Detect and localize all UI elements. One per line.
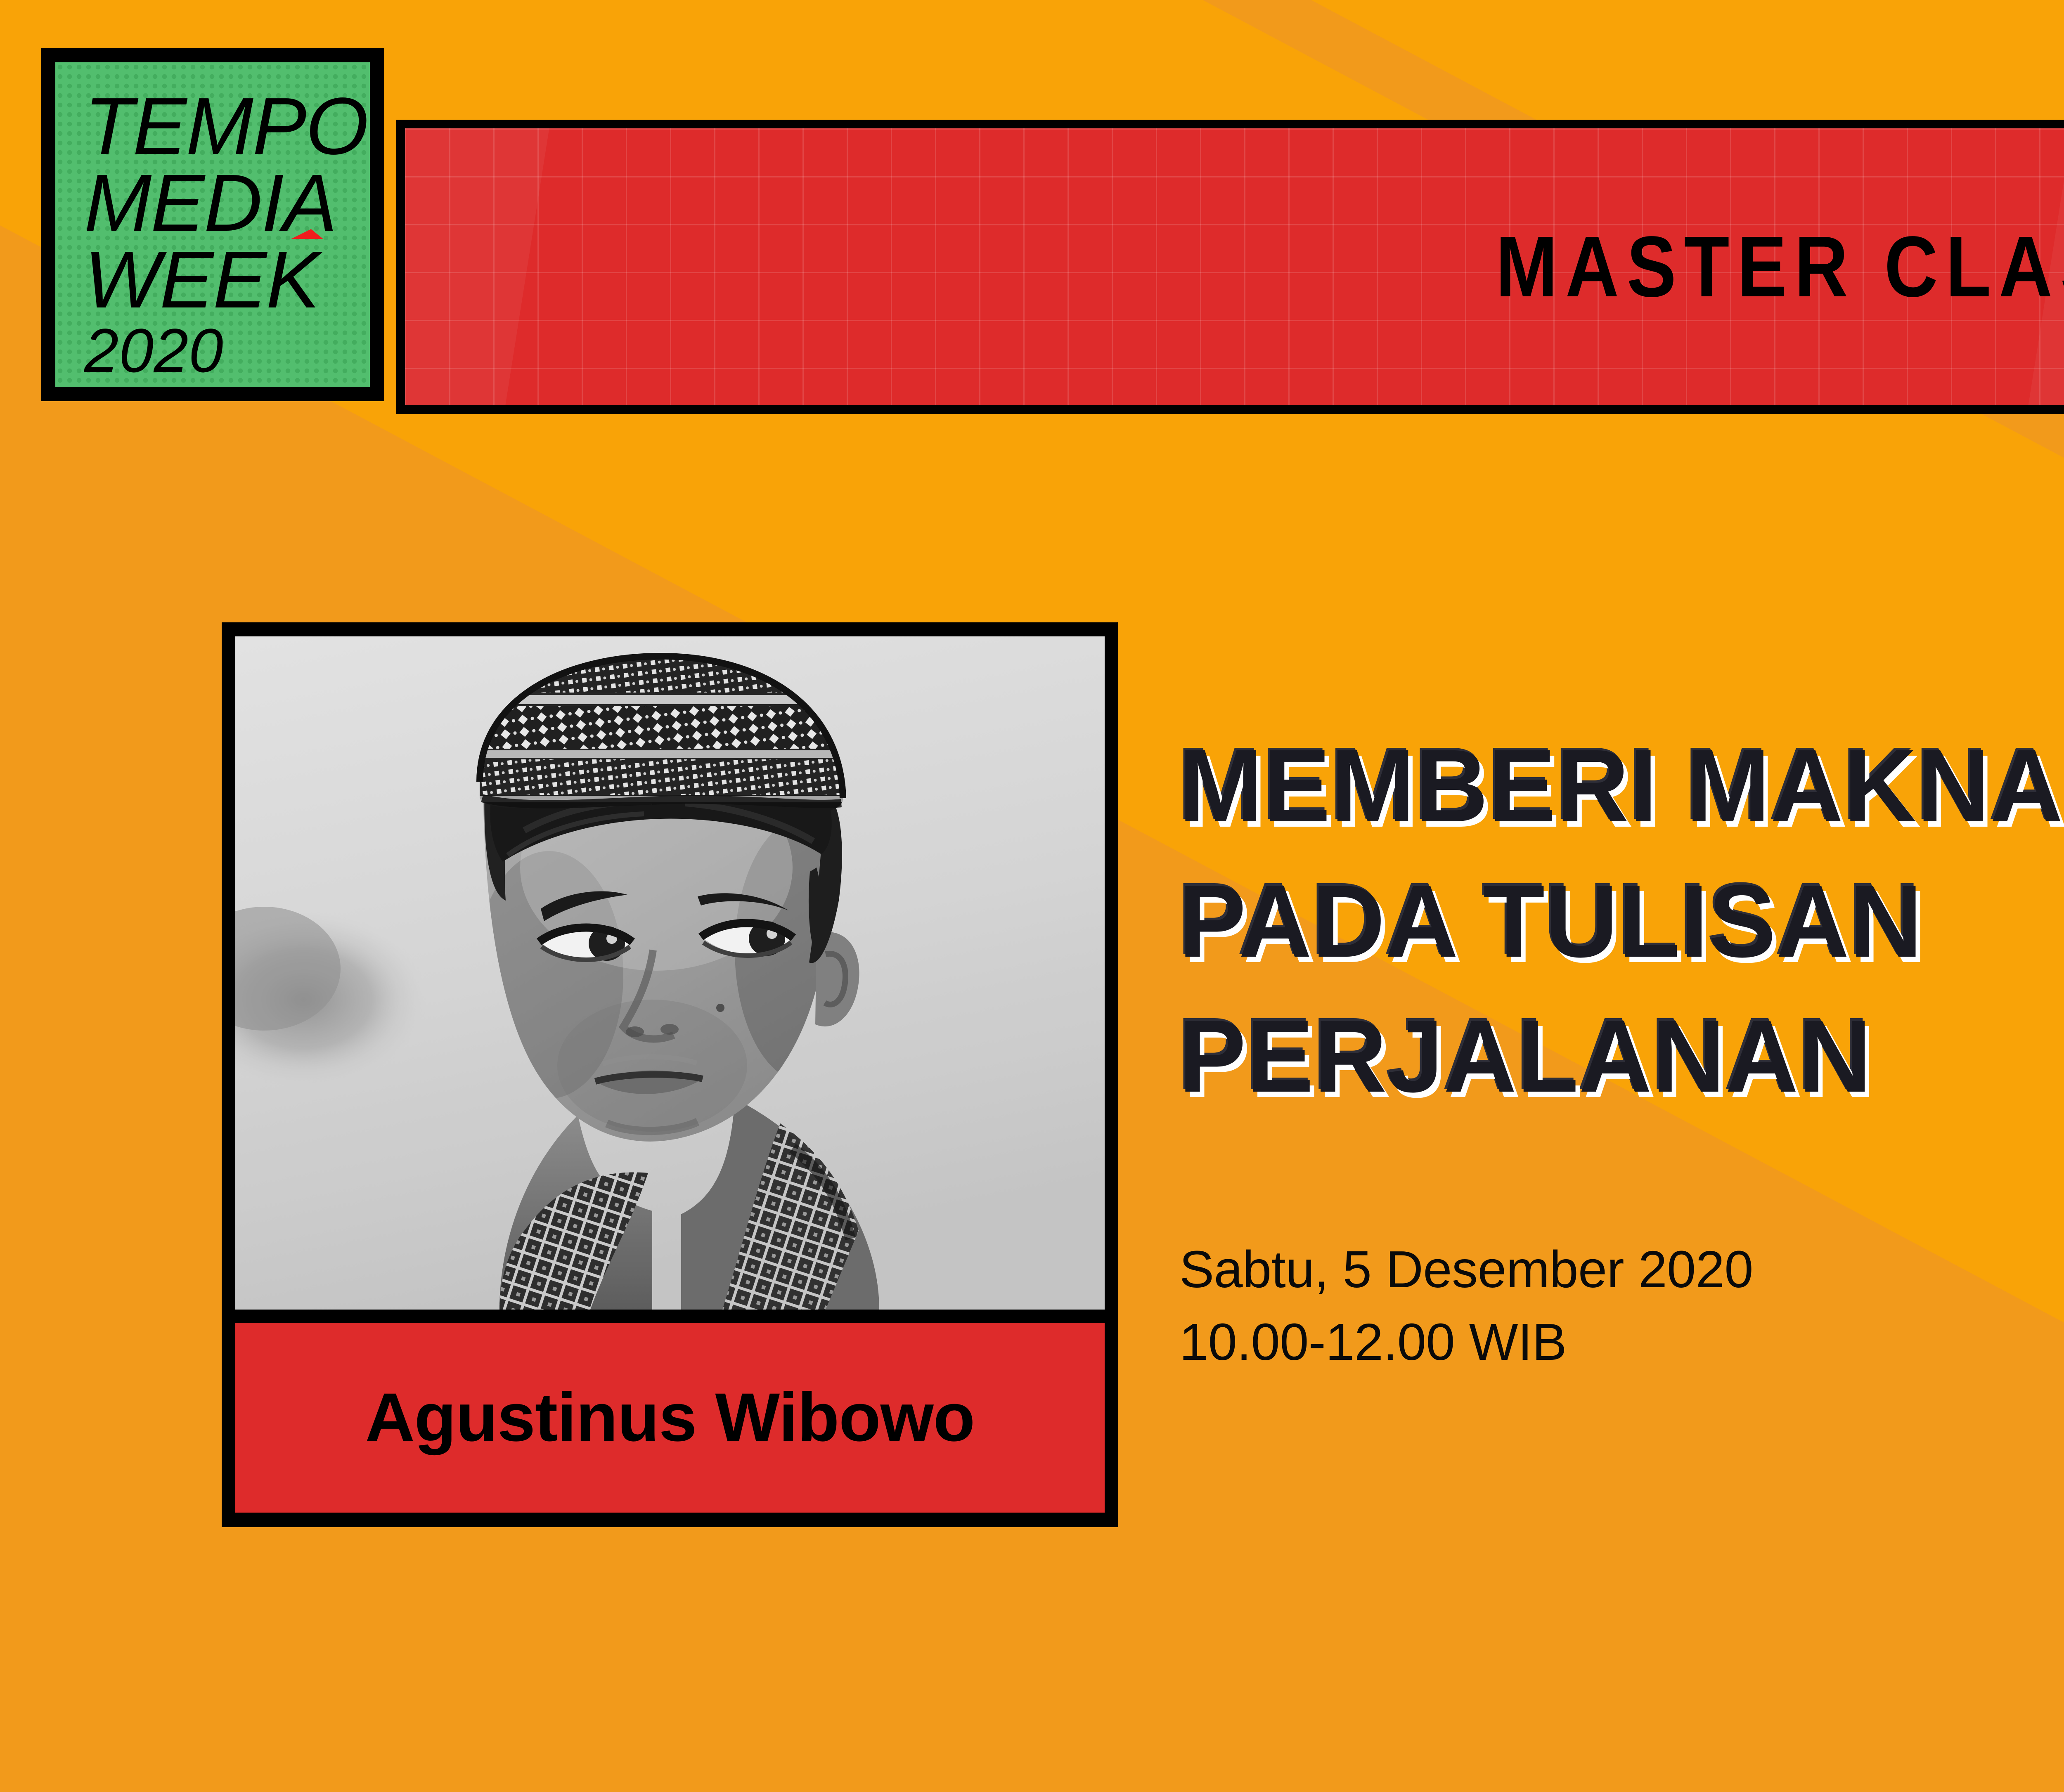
session-title-line-1: MEMBERI MAKNA	[1179, 718, 2064, 853]
session-title: MEMBERI MAKNA PADA TULISAN PERJALANAN	[1179, 718, 2064, 1124]
event-poster: TEMPO MEDIA WEEK2020 MASTER CLASSS	[0, 0, 2064, 1792]
speaker-portrait-artwork	[235, 636, 1105, 1310]
master-class-label: MASTER CLASSS	[1496, 217, 2064, 317]
speaker-card: Agustinus Wibowo	[222, 622, 1118, 1527]
logo-line-week: WEEK	[84, 234, 319, 325]
speaker-name: Agustinus Wibowo	[365, 1378, 975, 1457]
session-title-line-2: PADA TULISAN	[1179, 853, 2064, 989]
session-date: Sabtu, 5 Desember 2020	[1179, 1233, 1753, 1306]
session-time: 10.00-12.00 WIB	[1179, 1306, 1753, 1378]
master-class-banner: MASTER CLASSS	[396, 120, 2064, 414]
master-class-banner-red-panel: MASTER CLASSS	[405, 128, 2064, 405]
speaker-photo	[235, 636, 1105, 1310]
session-title-line-3: PERJALANAN	[1179, 988, 2064, 1124]
logo-wordmark: TEMPO MEDIA WEEK2020	[84, 88, 362, 380]
tempo-media-week-logo: TEMPO MEDIA WEEK2020	[41, 48, 384, 401]
session-schedule: Sabtu, 5 Desember 2020 10.00-12.00 WIB	[1179, 1233, 1753, 1379]
logo-line-year: 2020	[84, 321, 362, 380]
logo-green-panel: TEMPO MEDIA WEEK2020	[55, 62, 370, 387]
speaker-nameplate: Agustinus Wibowo	[235, 1323, 1105, 1513]
